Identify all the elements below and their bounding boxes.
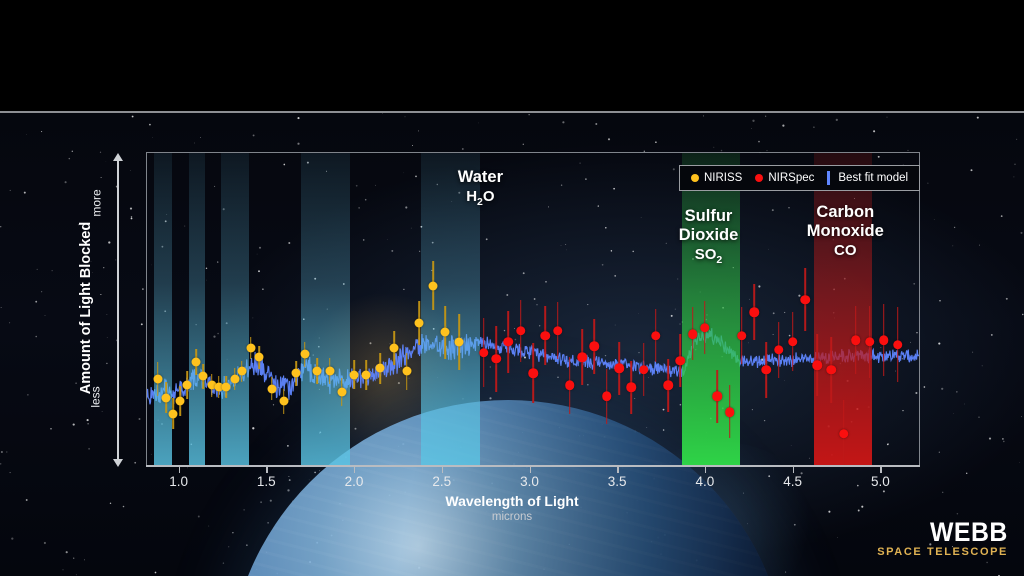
data-point-nirspec: [541, 331, 551, 341]
data-point-nirspec: [788, 337, 798, 347]
x-axis-line: [146, 465, 920, 467]
webb-logo-name: WEBB: [888, 518, 1008, 546]
data-point-niriss: [376, 364, 385, 373]
x-axis-tick-label: 3.5: [608, 474, 627, 489]
data-point-niriss: [429, 281, 438, 290]
molecule-formula: H2O: [390, 187, 570, 212]
data-point-niriss: [237, 367, 246, 376]
legend-label-nirspec: NIRSpec: [768, 172, 814, 184]
data-point-niriss: [176, 397, 185, 406]
x-axis-tick: [442, 465, 443, 473]
data-point-niriss: [402, 367, 411, 376]
data-point-niriss: [183, 381, 192, 390]
x-axis-tick-label: 2.0: [345, 474, 364, 489]
data-point-niriss: [267, 384, 276, 393]
x-axis-tick-label: 3.0: [520, 474, 539, 489]
data-point-niriss: [246, 344, 255, 353]
infographic-root: EXOPLANET TOI-421 b HOT SUB-NEPTUNE NIRI…: [0, 0, 1024, 576]
data-point-nirspec: [479, 348, 489, 358]
molecule-band: [682, 153, 740, 465]
plot-left-border: [146, 152, 147, 465]
data-point-nirspec: [602, 392, 612, 402]
data-point-niriss: [255, 353, 264, 362]
y-axis-low-label: less: [89, 386, 103, 407]
data-point-nirspec: [528, 368, 538, 378]
data-point-nirspec: [651, 331, 661, 341]
data-point-nirspec: [688, 329, 698, 339]
data-point-nirspec: [865, 337, 875, 347]
x-axis-tick: [266, 465, 267, 473]
data-point-niriss: [337, 387, 346, 396]
x-axis-tick: [705, 465, 706, 473]
y-axis-high-label: more: [90, 189, 104, 216]
data-point-niriss: [350, 370, 359, 379]
data-point-nirspec: [663, 381, 673, 391]
molecule-annotation: CarbonMonoxideCO: [755, 203, 935, 260]
webb-logo-subtitle: SPACE TELESCOPE: [877, 546, 1008, 558]
header-divider: [0, 111, 1024, 113]
x-axis-tick-label: 1.5: [257, 474, 276, 489]
molecule-name: Carbon: [755, 203, 935, 222]
data-point-nirspec: [700, 323, 710, 333]
x-axis-units: microns: [0, 511, 1024, 523]
data-point-niriss: [292, 369, 301, 378]
data-point-niriss: [192, 358, 201, 367]
data-point-nirspec: [839, 429, 849, 439]
data-point-nirspec: [812, 360, 822, 370]
nirspec-dot-icon: [755, 174, 763, 182]
data-point-nirspec: [504, 337, 514, 347]
data-point-nirspec: [553, 326, 563, 336]
chart-legend: NIRISS NIRSpec Best fit model: [679, 165, 920, 191]
data-point-nirspec: [762, 365, 772, 375]
y-axis-title: Amount of Light Blocked: [78, 198, 94, 418]
y-axis-arrow: [117, 160, 119, 460]
molecule-band: [154, 153, 172, 465]
data-point-nirspec: [639, 365, 649, 375]
molecule-formula: CO: [755, 241, 935, 260]
plot-right-border: [919, 152, 920, 465]
x-axis-tick-label: 4.0: [696, 474, 715, 489]
data-point-nirspec: [712, 392, 722, 402]
model-line-icon: [827, 171, 830, 185]
legend-label-model: Best fit model: [838, 172, 908, 184]
data-point-niriss: [230, 375, 239, 384]
data-point-niriss: [169, 409, 178, 418]
data-point-nirspec: [879, 335, 889, 345]
data-point-niriss: [455, 337, 464, 346]
webb-logo: WEBB SPACE TELESCOPE: [877, 518, 1008, 558]
data-point-niriss: [313, 367, 322, 376]
data-point-nirspec: [893, 340, 903, 350]
x-axis-tick-label: 2.5: [432, 474, 451, 489]
legend-item-model: Best fit model: [827, 171, 908, 185]
molecule-name: Water: [390, 168, 570, 187]
molecule-annotation: WaterH2O: [390, 168, 570, 212]
data-point-nirspec: [749, 307, 759, 317]
data-point-nirspec: [851, 335, 861, 345]
x-axis-tick: [617, 465, 618, 473]
data-point-nirspec: [827, 365, 837, 375]
data-point-nirspec: [725, 407, 735, 417]
x-axis-tick: [530, 465, 531, 473]
molecule-band: [189, 153, 205, 465]
data-point-niriss: [441, 328, 450, 337]
legend-label-niriss: NIRISS: [704, 172, 742, 184]
header-bar: [0, 0, 1024, 112]
x-axis-tick: [793, 465, 794, 473]
data-point-niriss: [279, 397, 288, 406]
data-point-niriss: [362, 370, 371, 379]
data-point-nirspec: [614, 364, 624, 374]
data-point-niriss: [300, 350, 309, 359]
data-point-nirspec: [800, 295, 810, 305]
legend-item-nirspec: NIRSpec: [755, 172, 814, 184]
x-axis-tick-label: 1.0: [169, 474, 188, 489]
x-axis-tick-label: 4.5: [783, 474, 802, 489]
data-point-nirspec: [590, 342, 600, 352]
data-point-niriss: [153, 375, 162, 384]
x-axis-tick: [179, 465, 180, 473]
x-axis-tick: [354, 465, 355, 473]
data-point-nirspec: [491, 354, 501, 364]
niriss-dot-icon: [691, 174, 699, 182]
x-axis-title: Wavelength of Light: [0, 493, 1024, 509]
molecule-band: [301, 153, 350, 465]
data-point-nirspec: [565, 381, 575, 391]
molecule-band: [221, 153, 249, 465]
x-axis-tick-label: 5.0: [871, 474, 890, 489]
data-point-nirspec: [627, 382, 637, 392]
data-point-nirspec: [516, 326, 526, 336]
data-point-nirspec: [737, 331, 747, 341]
data-point-niriss: [325, 367, 334, 376]
x-axis-tick: [880, 465, 881, 473]
data-point-niriss: [222, 383, 231, 392]
data-point-niriss: [415, 319, 424, 328]
data-point-nirspec: [774, 345, 784, 355]
data-point-niriss: [162, 393, 171, 402]
data-point-nirspec: [577, 353, 587, 363]
data-point-niriss: [390, 344, 399, 353]
data-point-niriss: [199, 372, 208, 381]
molecule-name: Monoxide: [755, 222, 935, 241]
legend-item-niriss: NIRISS: [691, 172, 742, 184]
data-point-nirspec: [676, 356, 686, 366]
